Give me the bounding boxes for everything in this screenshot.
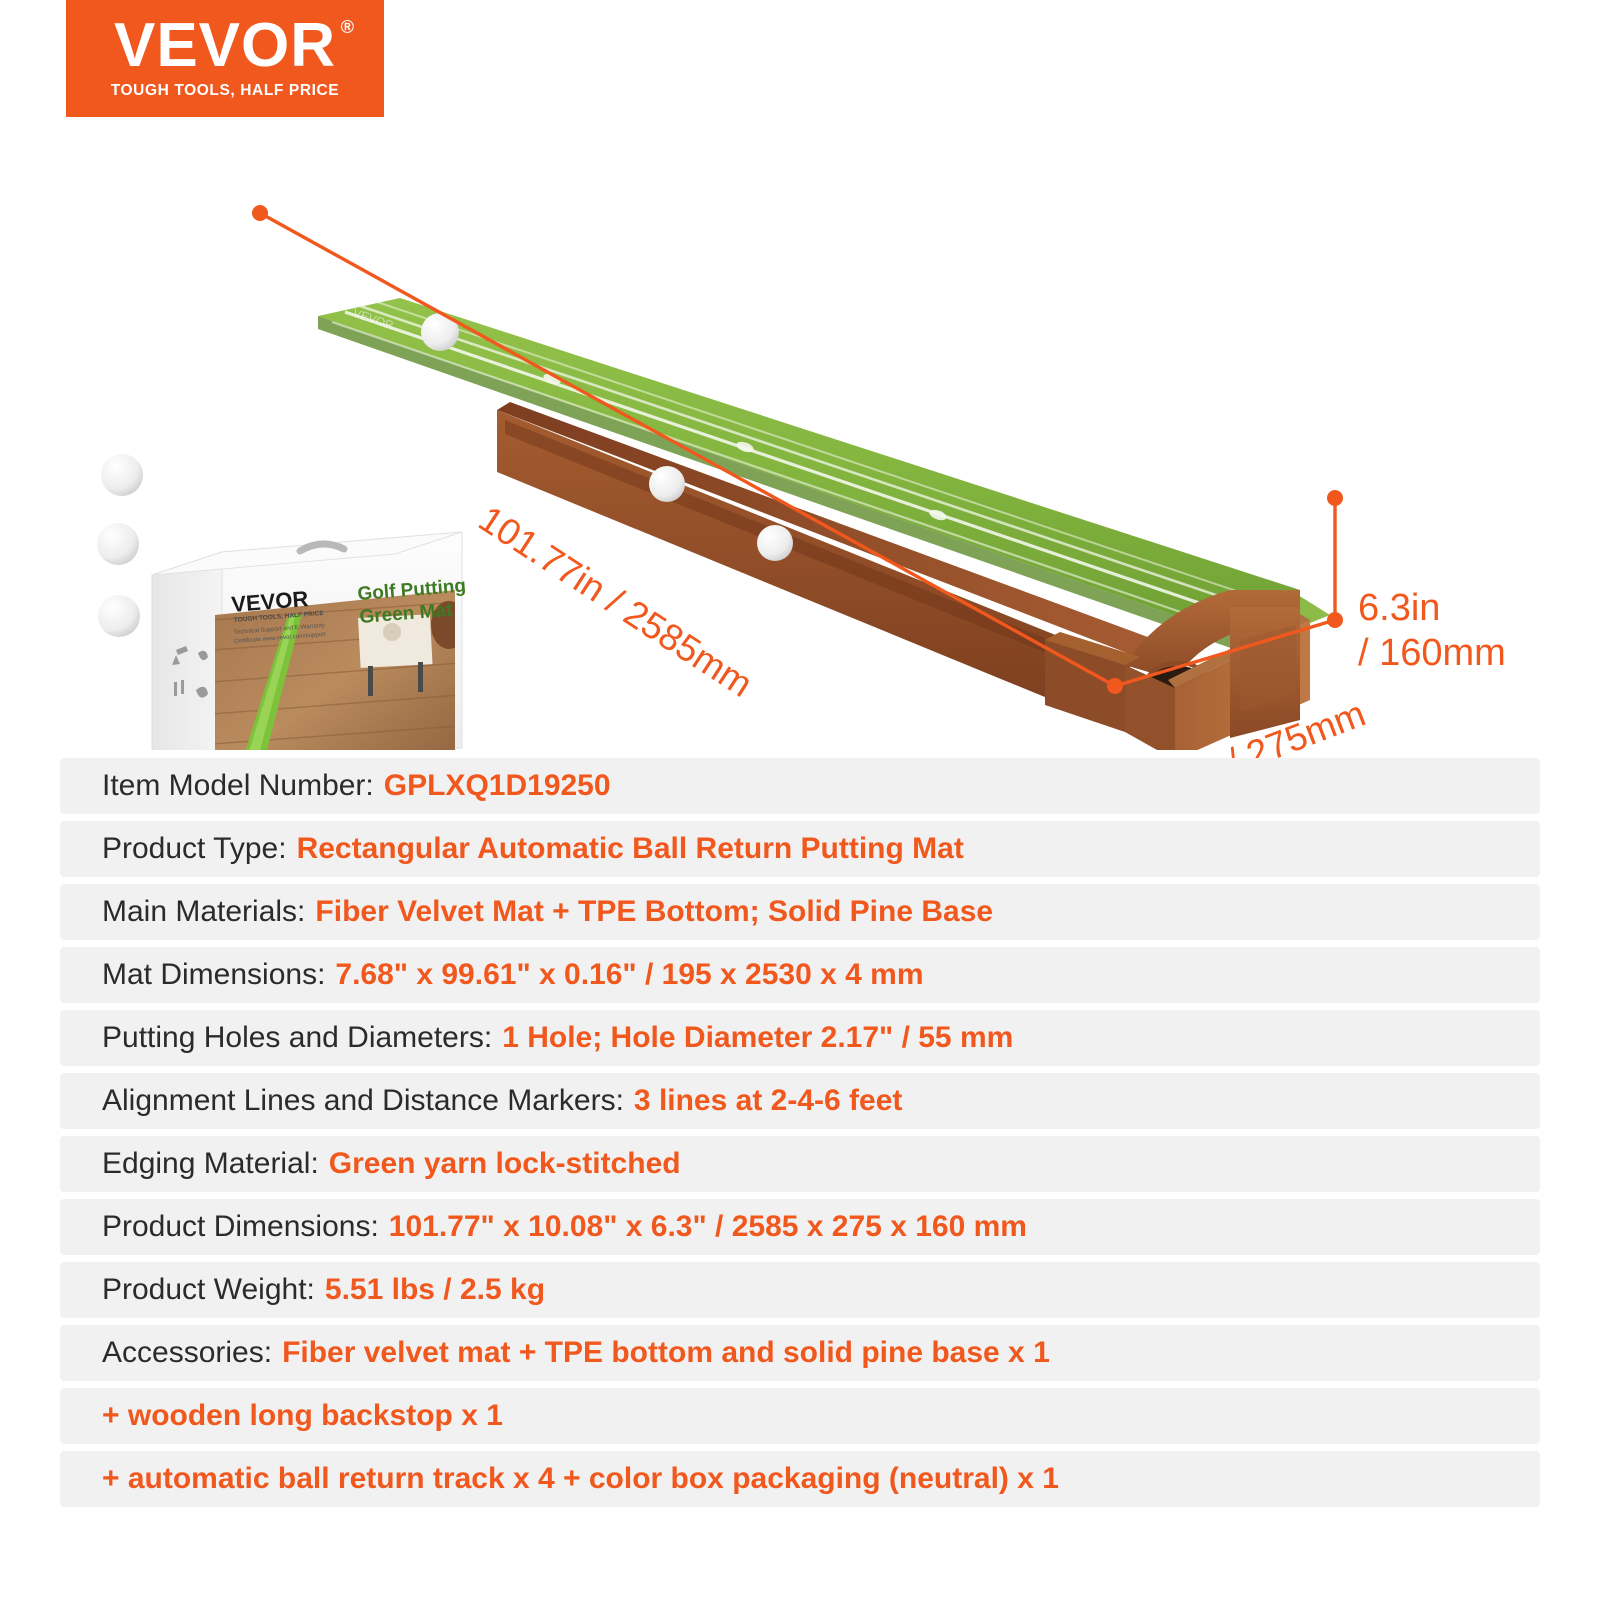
spec-value: 1 Hole; Hole Diameter 2.17" / 55 mm bbox=[502, 1021, 1013, 1055]
spec-row: + automatic ball return track x 4 + colo… bbox=[60, 1451, 1540, 1507]
height-dimension-line2: / 160mm bbox=[1358, 631, 1506, 676]
package-box: VEVOR TOUGH TOOLS, HALF PRICE Technical … bbox=[152, 532, 470, 750]
spec-value: Fiber velvet mat + TPE bottom and solid … bbox=[282, 1336, 1050, 1370]
specification-table: Item Model Number:GPLXQ1D19250Product Ty… bbox=[60, 758, 1540, 1514]
spec-key: Product Type: bbox=[102, 832, 287, 866]
spec-value: 101.77" x 10.08" x 6.3" / 2585 x 275 x 1… bbox=[389, 1210, 1027, 1244]
spec-value: + automatic ball return track x 4 + colo… bbox=[102, 1462, 1059, 1496]
spec-value: Rectangular Automatic Ball Return Puttin… bbox=[297, 832, 964, 866]
spec-row: Alignment Lines and Distance Markers:3 l… bbox=[60, 1073, 1540, 1129]
spec-value: + wooden long backstop x 1 bbox=[102, 1399, 503, 1433]
spec-value: 3 lines at 2-4-6 feet bbox=[634, 1084, 902, 1118]
spec-key: Item Model Number: bbox=[102, 769, 374, 803]
golf-ball-1 bbox=[101, 454, 143, 496]
spec-row: + wooden long backstop x 1 bbox=[60, 1388, 1540, 1444]
spec-row: Putting Holes and Diameters:1 Hole; Hole… bbox=[60, 1010, 1540, 1066]
spec-value: Green yarn lock-stitched bbox=[329, 1147, 681, 1181]
spec-key: Mat Dimensions: bbox=[102, 958, 325, 992]
spec-value: Fiber Velvet Mat + TPE Bottom; Solid Pin… bbox=[315, 895, 993, 929]
spec-key: Putting Holes and Diameters: bbox=[102, 1021, 492, 1055]
spec-row: Product Weight:5.51 lbs / 2.5 kg bbox=[60, 1262, 1540, 1318]
spec-value: 7.68" x 99.61" x 0.16" / 195 x 2530 x 4 … bbox=[335, 958, 923, 992]
spec-key: Alignment Lines and Distance Markers: bbox=[102, 1084, 624, 1118]
height-dimension-label: 6.3in / 160mm bbox=[1358, 586, 1506, 676]
spec-key: Edging Material: bbox=[102, 1147, 319, 1181]
registered-trademark-icon: ® bbox=[341, 19, 355, 36]
spec-key: Product Dimensions: bbox=[102, 1210, 379, 1244]
brand-name: VEVOR bbox=[114, 11, 336, 80]
spec-row: Accessories:Fiber velvet mat + TPE botto… bbox=[60, 1325, 1540, 1381]
spec-row: Edging Material:Green yarn lock-stitched bbox=[60, 1136, 1540, 1192]
spec-key: Product Weight: bbox=[102, 1273, 315, 1307]
spec-key: Main Materials: bbox=[102, 895, 305, 929]
height-dimension-line1: 6.3in bbox=[1358, 586, 1506, 631]
spec-key: Accessories: bbox=[102, 1336, 272, 1370]
spec-row: Product Dimensions:101.77" x 10.08" x 6.… bbox=[60, 1199, 1540, 1255]
golf-ball-on-mat-3 bbox=[757, 525, 793, 561]
spec-value: GPLXQ1D19250 bbox=[384, 769, 611, 803]
spec-row: Main Materials:Fiber Velvet Mat + TPE Bo… bbox=[60, 884, 1540, 940]
spec-row: Product Type:Rectangular Automatic Ball … bbox=[60, 821, 1540, 877]
vevor-logo: VEVOR ® TOUGH TOOLS, HALF PRICE bbox=[66, 0, 384, 117]
product-hero-image: VEVOR bbox=[0, 120, 1600, 750]
brand-wordmark: VEVOR ® bbox=[114, 17, 336, 76]
brand-tagline: TOUGH TOOLS, HALF PRICE bbox=[111, 82, 340, 100]
spec-value: 5.51 lbs / 2.5 kg bbox=[325, 1273, 545, 1307]
golf-ball-3 bbox=[98, 595, 140, 637]
spec-row: Mat Dimensions:7.68" x 99.61" x 0.16" / … bbox=[60, 947, 1540, 1003]
golf-ball-2 bbox=[97, 523, 139, 565]
golf-ball-on-mat-2 bbox=[649, 466, 685, 502]
spec-row: Item Model Number:GPLXQ1D19250 bbox=[60, 758, 1540, 814]
